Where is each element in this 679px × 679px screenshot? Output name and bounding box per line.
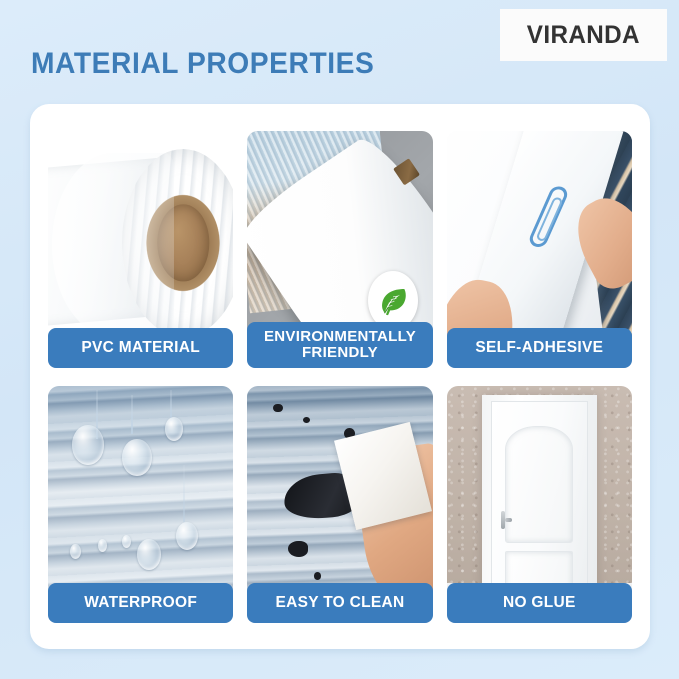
paperclip-icon — [527, 185, 570, 250]
feature-card-pvc-material[interactable]: PVC MATERIAL — [48, 131, 233, 368]
water-drop — [72, 425, 104, 464]
water-drop-7 — [98, 539, 107, 552]
pvc-roll-image — [48, 131, 233, 350]
feature-card-environmentally-friendly[interactable]: ENVIRONMENTALLY FRIENDLY — [247, 131, 432, 368]
stain-spot — [273, 404, 282, 413]
water-drop-3 — [165, 417, 184, 441]
feature-label-waterproof: WATERPROOF — [48, 583, 233, 623]
page-header: MATERIAL PROPERTIES VIRANDA — [0, 0, 679, 105]
stain-spot-2 — [303, 417, 310, 424]
features-grid: PVC MATERIAL ENVIRONMENTALLY FR — [48, 131, 632, 623]
page-title: MATERIAL PROPERTIES — [31, 47, 374, 81]
easy-to-clean-image — [247, 386, 432, 605]
waterproof-image — [48, 386, 233, 605]
door-slab-shape — [491, 401, 588, 605]
feature-card-no-glue[interactable]: NO GLUE — [447, 386, 632, 623]
stain-spot-5 — [314, 572, 321, 580]
water-drop-2 — [122, 439, 152, 476]
feature-card-easy-to-clean[interactable]: EASY TO CLEAN — [247, 386, 432, 623]
door-frame-shape — [482, 395, 597, 605]
feature-card-waterproof[interactable]: WATERPROOF — [48, 386, 233, 623]
features-panel: PVC MATERIAL ENVIRONMENTALLY FR — [30, 104, 650, 649]
water-drop-8 — [122, 535, 131, 548]
water-drip-4 — [183, 465, 185, 522]
water-drop-6 — [70, 544, 81, 559]
feature-label-self-adhesive: SELF-ADHESIVE — [447, 328, 632, 368]
brand-badge: VIRANDA — [500, 9, 667, 61]
water-drop-4 — [137, 539, 161, 570]
cleaning-cloth-shape — [334, 422, 432, 530]
water-drip-2 — [131, 395, 133, 434]
feature-label-easy-to-clean: EASY TO CLEAN — [247, 583, 432, 623]
eco-roll-image — [247, 131, 432, 350]
self-adhesive-image — [447, 131, 632, 350]
feature-label-pvc-material: PVC MATERIAL — [48, 328, 233, 368]
feature-label-environmentally-friendly: ENVIRONMENTALLY FRIENDLY — [247, 322, 432, 368]
water-drop-5 — [176, 522, 198, 550]
door-handle-icon — [501, 511, 505, 529]
brand-name: VIRANDA — [527, 21, 640, 50]
feature-card-self-adhesive[interactable]: SELF-ADHESIVE — [447, 131, 632, 368]
stain-spot-4 — [288, 541, 308, 556]
pvc-edge-shape — [52, 153, 174, 337]
feature-label-no-glue: NO GLUE — [447, 583, 632, 623]
no-glue-door-image — [447, 386, 632, 605]
door-panel-top — [505, 426, 573, 543]
